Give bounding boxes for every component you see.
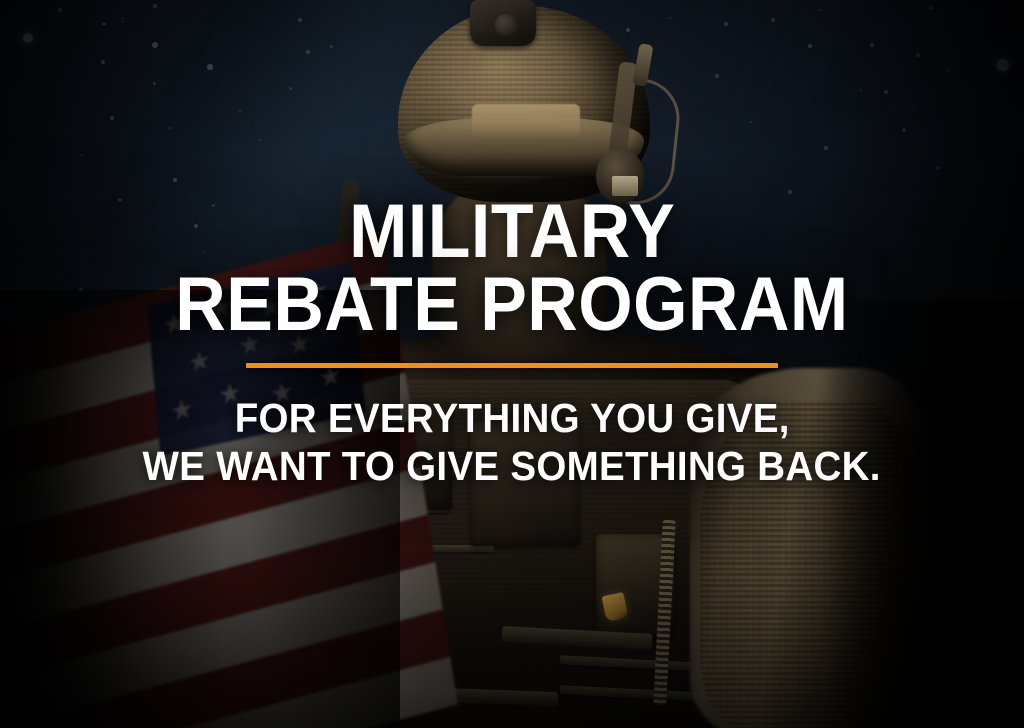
subhead-line-1: FOR EVERYTHING YOU GIVE, — [234, 396, 789, 442]
subhead-line-2: WE WANT TO GIVE SOMETHING BACK. — [143, 444, 881, 490]
military-rebate-banner: ★ ★ ★ ★ ★ ★ ★ ★ ★ ★ ★ MILITARY REBATE PR… — [0, 0, 1024, 728]
orange-divider-rule — [246, 363, 778, 368]
banner-content: MILITARY REBATE PROGRAM FOR EVERYTHING Y… — [0, 0, 1024, 728]
headline-line-2: REBATE PROGRAM — [175, 269, 848, 340]
headline-line-1: MILITARY — [349, 196, 675, 267]
